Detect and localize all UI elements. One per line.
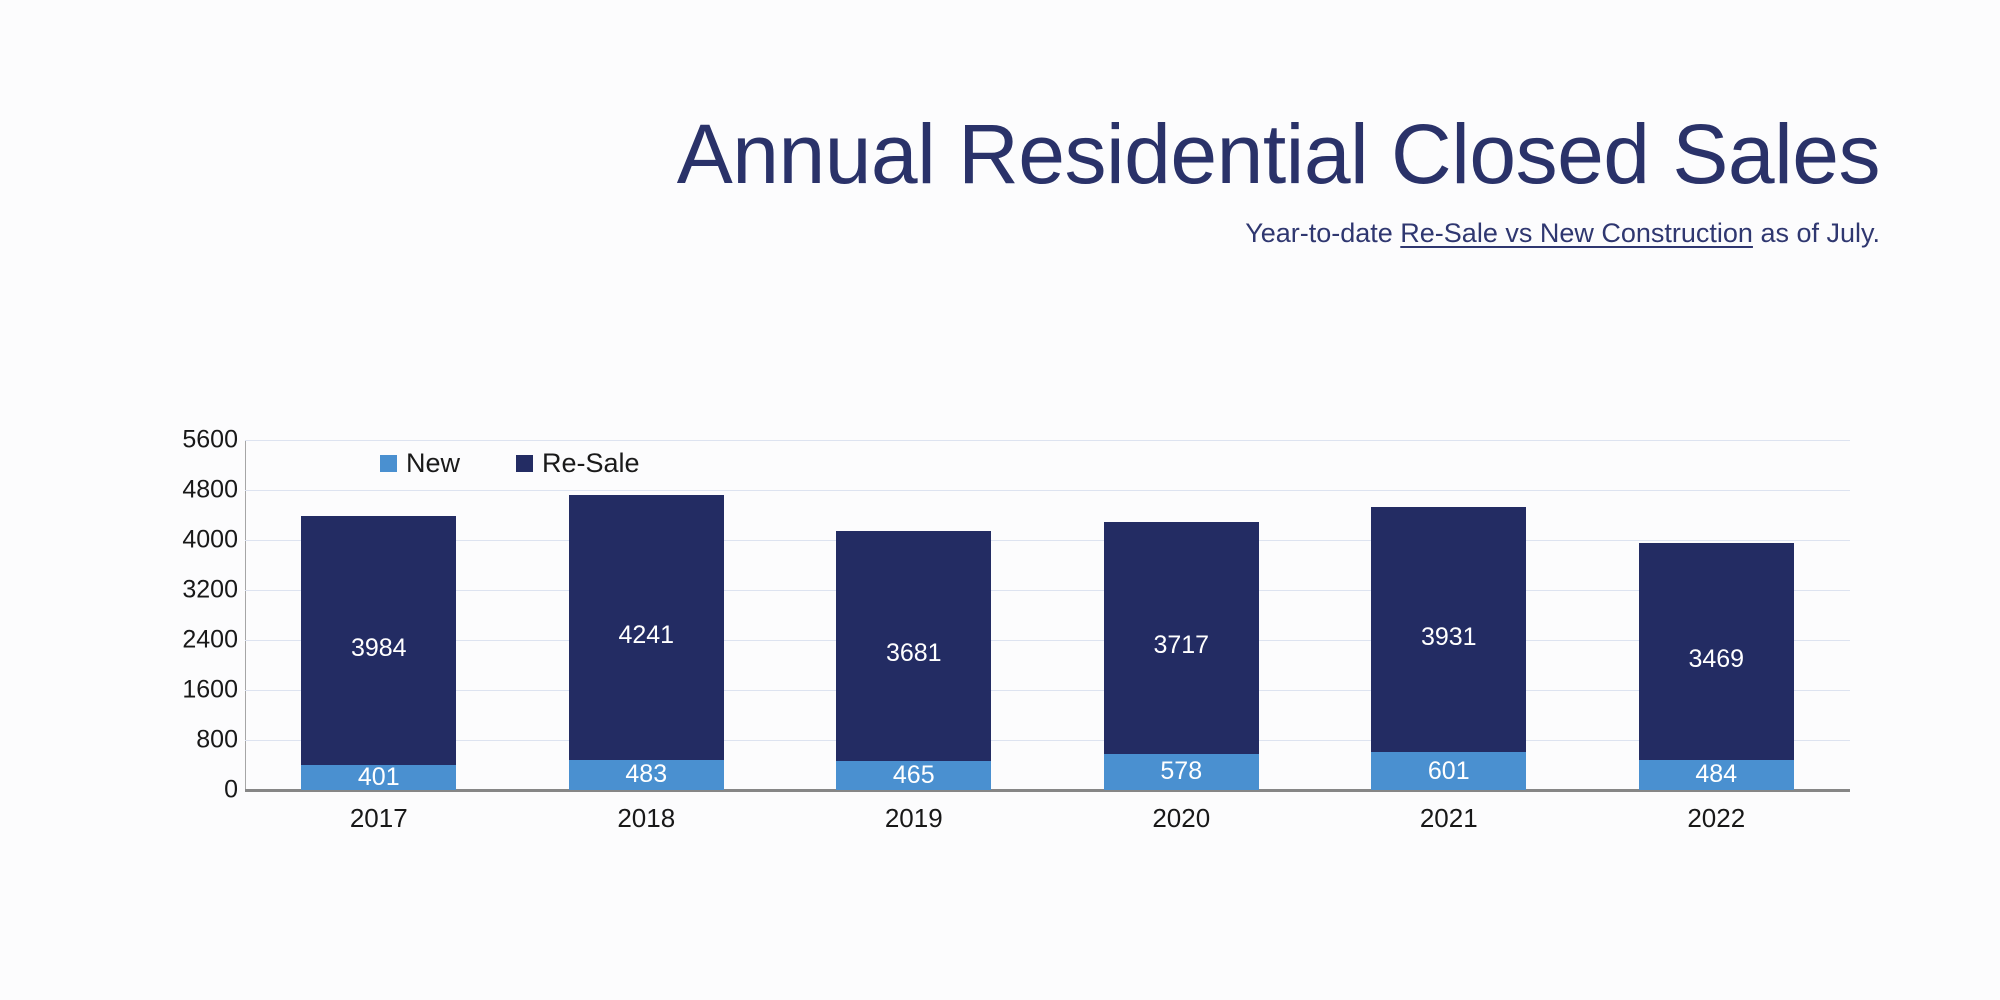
bar-value-label-new: 401 (358, 765, 400, 790)
x-tick-label: 2020 (1152, 803, 1210, 834)
x-tick-label: 2022 (1687, 803, 1745, 834)
bar-segment-resale[interactable]: 3681 (836, 531, 991, 761)
x-tick-label: 2018 (617, 803, 675, 834)
bar-group[interactable]: 3717578 (1104, 522, 1259, 790)
bar-value-label-resale: 3717 (1153, 633, 1209, 658)
bar-segment-resale[interactable]: 3984 (301, 516, 456, 765)
subtitle-prefix: Year-to-date (1245, 218, 1400, 248)
bar-segment-new[interactable]: 483 (569, 760, 724, 790)
legend-swatch-new (380, 455, 397, 472)
legend-label-new: New (406, 448, 460, 479)
chart-subtitle: Year-to-date Re-Sale vs New Construction… (0, 218, 1880, 249)
subtitle-suffix: as of July. (1753, 218, 1880, 248)
y-tick-label: 4000 (150, 526, 238, 555)
plot-area: New Re-Sale 3984401424148336814653717578… (245, 440, 1850, 790)
bar-value-label-new: 465 (893, 763, 935, 788)
bar-segment-resale[interactable]: 3469 (1639, 543, 1794, 760)
chart-legend: New Re-Sale (380, 448, 640, 479)
legend-item-resale[interactable]: Re-Sale (516, 448, 640, 479)
y-tick-label: 0 (150, 776, 238, 805)
x-tick-label: 2019 (885, 803, 943, 834)
bar-value-label-new: 578 (1160, 759, 1202, 784)
y-tick-label: 1600 (150, 676, 238, 705)
bar-group[interactable]: 3984401 (301, 516, 456, 790)
bar-group[interactable]: 4241483 (569, 495, 724, 790)
bar-segment-new[interactable]: 601 (1371, 752, 1526, 790)
bar-value-label-resale: 3681 (886, 641, 942, 666)
y-tick-label: 2400 (150, 626, 238, 655)
bar-value-label-new: 484 (1695, 762, 1737, 787)
bar-group[interactable]: 3681465 (836, 531, 991, 790)
bar-value-label-new: 601 (1428, 759, 1470, 784)
bar-group[interactable]: 3469484 (1639, 543, 1794, 790)
bar-segment-new[interactable]: 578 (1104, 754, 1259, 790)
legend-item-new[interactable]: New (380, 448, 460, 479)
page-title: Annual Residential Closed Sales (0, 112, 1880, 196)
legend-swatch-resale (516, 455, 533, 472)
y-tick-label: 3200 (150, 576, 238, 605)
stacked-bar-chart: 5600480040003200240016008000 New Re-Sale… (150, 425, 1860, 865)
bar-value-label-resale: 3931 (1421, 625, 1477, 650)
bar-value-label-new: 483 (625, 762, 667, 787)
bar-segment-resale[interactable]: 3931 (1371, 507, 1526, 753)
bar-value-label-resale: 3984 (351, 636, 407, 661)
x-axis: 201720182019202020212022 (245, 803, 1850, 848)
y-tick-label: 4800 (150, 476, 238, 505)
chart-header: Annual Residential Closed Sales Year-to-… (0, 0, 1880, 249)
subtitle-highlight: Re-Sale vs New Construction (1400, 218, 1753, 248)
bar-value-label-resale: 4241 (618, 623, 674, 648)
x-tick-label: 2017 (350, 803, 408, 834)
bar-segment-resale[interactable]: 3717 (1104, 522, 1259, 754)
y-axis: 5600480040003200240016008000 (150, 425, 238, 790)
y-tick-label: 800 (150, 726, 238, 755)
bar-segment-new[interactable]: 465 (836, 761, 991, 790)
bar-segment-new[interactable]: 401 (301, 765, 456, 790)
bar-segment-new[interactable]: 484 (1639, 760, 1794, 790)
legend-label-resale: Re-Sale (542, 448, 640, 479)
bar-segment-resale[interactable]: 4241 (569, 495, 724, 760)
x-tick-label: 2021 (1420, 803, 1478, 834)
bar-value-label-resale: 3469 (1688, 647, 1744, 672)
bar-group[interactable]: 3931601 (1371, 507, 1526, 790)
bar-series-container: 3984401424148336814653717578393160134694… (245, 440, 1850, 790)
y-tick-label: 5600 (150, 426, 238, 455)
